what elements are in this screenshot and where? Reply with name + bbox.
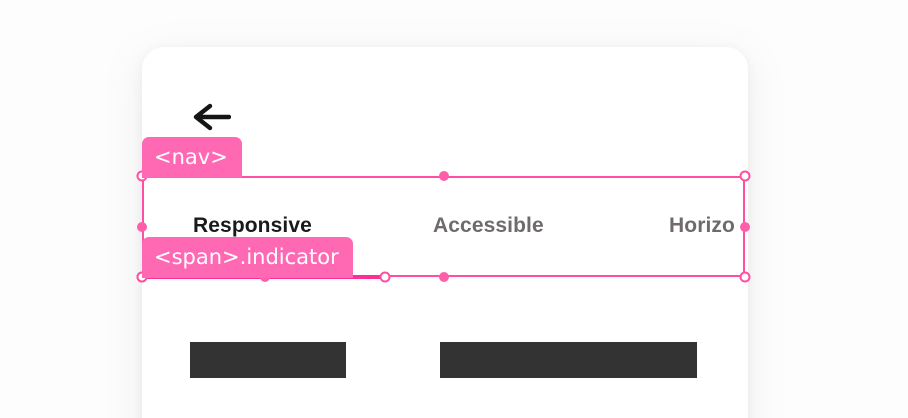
tab-accessible[interactable]: Accessible <box>433 212 544 240</box>
tab-active-indicator <box>189 264 339 271</box>
content-block-2 <box>440 342 697 378</box>
content-block-1 <box>190 342 346 378</box>
app-card: Responsive Accessible Horizo <box>142 47 748 418</box>
page-canvas: Responsive Accessible Horizo <nav> <span <box>0 0 908 418</box>
tab-horizontal[interactable]: Horizo <box>669 212 735 240</box>
back-button[interactable] <box>193 99 233 135</box>
arrow-left-icon <box>193 103 231 131</box>
nav-tab-bar: Responsive Accessible Horizo <box>142 176 748 277</box>
tab-responsive[interactable]: Responsive <box>193 212 312 240</box>
